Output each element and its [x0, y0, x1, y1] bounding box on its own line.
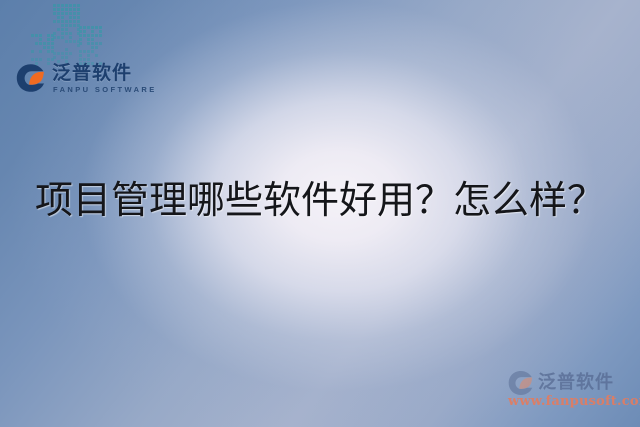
watermark: 泛普软件 www.fanpusoft.com: [508, 366, 634, 410]
city-tower: [53, 4, 81, 64]
fanpu-logo-mark-icon: [16, 63, 46, 93]
watermark-url: www.fanpusoft.com: [508, 394, 640, 409]
watermark-brand-name: 泛普软件: [538, 368, 614, 394]
promo-banner: 泛普软件 FANPU SOFTWARE 项目管理哪些软件好用？怎么样？ 泛普软件…: [0, 0, 640, 427]
brand-name-cn: 泛普软件: [52, 61, 132, 85]
page-title: 项目管理哪些软件好用？怎么样？: [0, 172, 640, 228]
brand-name-en: FANPU SOFTWARE: [53, 85, 157, 94]
city-tower: [79, 26, 103, 66]
pixel-city-skyline-icon: [31, 4, 103, 64]
brand-logo: 泛普软件 FANPU SOFTWARE: [16, 61, 144, 97]
fanpu-watermark-logo-mark-icon: [508, 370, 534, 396]
